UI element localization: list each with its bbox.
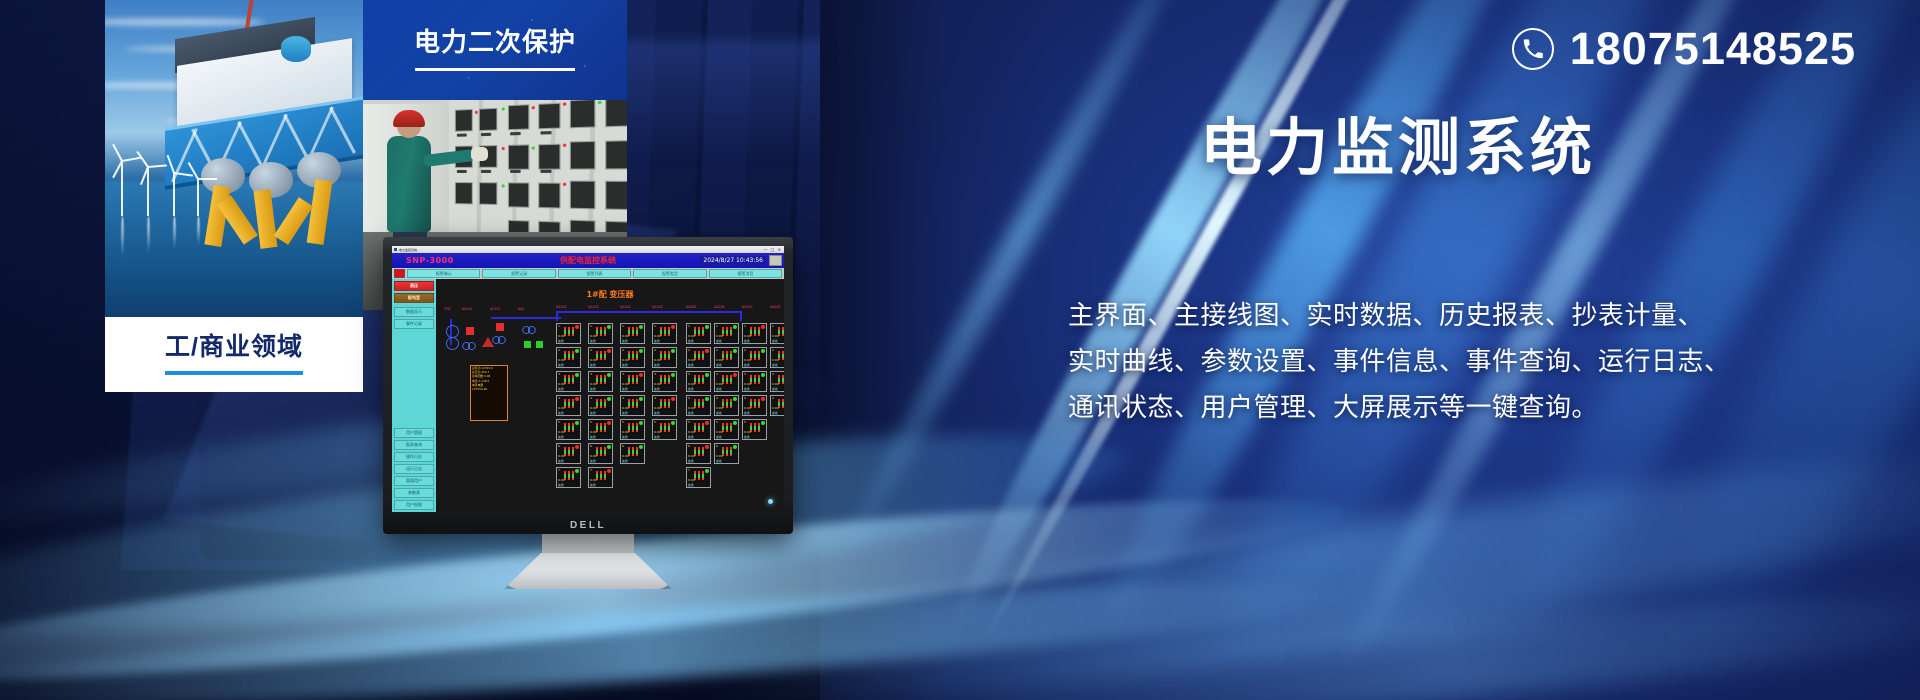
toolbar-alarm-list[interactable]: 报警列表 [558, 269, 631, 278]
feeder-value: 0.00 [688, 358, 695, 362]
summary-info-panel: 总有功 12345.6 总无功 456.7 功率因数 0.98 电流 A 128… [470, 365, 508, 421]
feeder-phase-bars-green [596, 378, 608, 382]
feeder-cell[interactable]: 20.00备用 [652, 347, 677, 368]
feeder-value: 0.00 [744, 382, 751, 386]
feeder-phase-bars-green [660, 378, 672, 382]
feeder-value: 0.00 [558, 382, 565, 386]
feeder-cell-number: 2 [590, 348, 592, 352]
feeder-cell[interactable]: 60.00备用 [588, 443, 613, 464]
feeder-cell[interactable]: 30.00备用 [620, 371, 645, 392]
feeder-name: 备用 [716, 411, 722, 415]
bus-tag: AA205 [686, 305, 697, 309]
feeder-name: 备用 [590, 411, 596, 415]
feeder-value: 0.00 [622, 430, 629, 434]
dell-logo: DELL [383, 520, 793, 531]
feeder-name: 备用 [772, 339, 778, 343]
feeder-value: 0.00 [744, 358, 751, 362]
alarm-indicator-icon[interactable] [394, 269, 405, 278]
app-icon [394, 248, 397, 251]
feeder-cell[interactable]: 60.00备用 [556, 443, 581, 464]
feeder-cell-number: 1 [654, 324, 656, 328]
feeder-cell[interactable]: 50.00备用 [714, 419, 739, 440]
feeder-cell[interactable]: 30.00备用 [652, 371, 677, 392]
feeder-value: 0.00 [688, 430, 695, 434]
description-line-2: 实时曲线、参数设置、事件信息、事件查询、运行日志、 [1068, 338, 1858, 384]
sidebar-item-admin-user[interactable]: 管理用户 [394, 476, 434, 486]
feeder-cell[interactable]: 20.00备用 [588, 347, 613, 368]
worker-body [387, 136, 431, 232]
feeder-name: 备用 [622, 411, 628, 415]
feeder-phase-bars-green [722, 450, 734, 454]
feeder-cell-number: 1 [590, 324, 592, 328]
feeder-cell[interactable]: 40.00备用 [686, 395, 711, 416]
feeder-phase-bars-green [750, 426, 762, 430]
feeder-value: 0.00 [688, 382, 695, 386]
feeder-cell-number: 2 [772, 348, 774, 352]
feeder-cell[interactable]: 20.00备用 [556, 347, 581, 368]
feeder-phase-bars-green [596, 330, 608, 334]
feeder-cell[interactable]: 40.00备用 [714, 395, 739, 416]
feeder-name: 备用 [590, 339, 596, 343]
feeder-value: 0.00 [590, 382, 597, 386]
feeder-cell-number: 3 [744, 372, 746, 376]
feeder-cell-number: 7 [688, 468, 690, 472]
feeder-value: 0.00 [622, 358, 629, 362]
sidebar-item-event-record[interactable]: 事件记录 [394, 319, 434, 329]
toolbar-alarm-type[interactable]: 报警类型 [633, 269, 706, 278]
feeder-phase-bars-green [722, 426, 734, 430]
card-label-underline [165, 371, 303, 375]
feature-description: 主界面、主接线图、实时数据、历史报表、抄表计量、 实时曲线、参数设置、事件信息、… [1068, 292, 1858, 430]
feeder-value: 0.00 [590, 454, 597, 458]
feeder-cell-number: 4 [654, 396, 656, 400]
feeder-value: 0.00 [654, 358, 661, 362]
feeder-cell[interactable]: 10.00备用 [556, 323, 581, 344]
feeder-cell[interactable]: 10.00备用 [588, 323, 613, 344]
feeder-cell[interactable]: 10.00备用 [770, 323, 784, 344]
feeder-phase-bars-green [750, 402, 762, 406]
feeder-cell-number: 3 [688, 372, 690, 376]
feeder-phase-bars-green [694, 354, 706, 358]
feeder-cell-number: 2 [744, 348, 746, 352]
feeder-cell-number: 4 [688, 396, 690, 400]
feeder-cell-number: 7 [558, 468, 560, 472]
banner-stage: 工/商业领域 电力二次保护 [0, 0, 1920, 700]
feeder-cell-number: 3 [716, 372, 718, 376]
feeder-phase-bars-green [564, 450, 576, 454]
feeder-cell[interactable]: 10.00备用 [620, 323, 645, 344]
feeder-cell-number: 2 [654, 348, 656, 352]
feeder-cell[interactable]: 30.00备用 [686, 371, 711, 392]
info-line: 107554.60 [471, 387, 507, 391]
feeder-cell-number: 5 [654, 420, 656, 424]
feeder-phase-bars-green [694, 474, 706, 478]
feeder-cell-number: 6 [688, 444, 690, 448]
feeder-cell-number: 4 [558, 396, 560, 400]
feeder-phase-bars-green [660, 402, 672, 406]
feeder-value: 0.00 [590, 334, 597, 338]
feeder-cell[interactable]: 50.00备用 [686, 419, 711, 440]
monitor-screen: 电力监控系统 — □ ✕ SNP-3000 供配电监控系统 2024/8/27 … [392, 246, 784, 512]
feeder-cell[interactable]: 10.00备用 [742, 323, 767, 344]
feeder-name: 备用 [744, 411, 750, 415]
app-toolbar: 报警确认 报警记录 报警列表 报警类型 报警消音 [392, 268, 784, 279]
feeder-cell-number: 4 [622, 396, 624, 400]
app-header-button[interactable] [769, 255, 782, 266]
feeder-name: 备用 [688, 363, 694, 367]
feeder-name: 备用 [622, 387, 628, 391]
phone-icon [1512, 28, 1554, 70]
feeder-value: 0.00 [772, 358, 779, 362]
sidebar-item-operation-log[interactable]: 操作日志 [394, 452, 434, 462]
feeder-phase-bars-green [628, 330, 640, 334]
feeder-cell-number: 4 [744, 396, 746, 400]
feeder-value: 0.00 [716, 334, 723, 338]
feeder-cell-number: 4 [772, 396, 774, 400]
app-header: SNP-3000 供配电监控系统 2024/8/27 10:43:56 [392, 253, 784, 268]
feeder-cell-number: 1 [772, 324, 774, 328]
feeder-value: 0.00 [716, 430, 723, 434]
feeder-cell-number: 3 [654, 372, 656, 376]
bus-tag: TM1 [444, 307, 451, 311]
feeder-value: 0.00 [716, 382, 723, 386]
feeder-name: 备用 [688, 459, 694, 463]
phone-number: 18075148525 [1570, 26, 1856, 71]
feeder-phase-bars-green [628, 354, 640, 358]
feeder-name: 备用 [558, 435, 564, 439]
sidebar-item-distribution-room[interactable]: 配电室 [394, 293, 434, 303]
feeder-cell-number: 1 [688, 324, 690, 328]
feeder-cell[interactable]: 20.00备用 [686, 347, 711, 368]
feeder-cell[interactable]: 60.00备用 [714, 443, 739, 464]
bus-tag: AA204 [714, 305, 725, 309]
feeder-value: 0.00 [558, 334, 565, 338]
feeder-cell-number: 1 [622, 324, 624, 328]
feeder-name: 备用 [590, 363, 596, 367]
feeder-phase-bars-green [750, 330, 762, 334]
description-line-1: 主界面、主接线图、实时数据、历史报表、抄表计量、 [1068, 292, 1858, 338]
feeder-phase-bars-green [722, 402, 734, 406]
feeder-cell-number: 2 [622, 348, 624, 352]
feeder-name: 备用 [654, 387, 660, 391]
feeder-name: 备用 [622, 459, 628, 463]
background-blend-edge [820, 0, 1050, 700]
description-line-3: 通讯状态、用户管理、大屏展示等一键查询。 [1068, 384, 1858, 430]
feeder-name: 备用 [622, 435, 628, 439]
sidebar-item-user-management[interactable]: 用户管理 [394, 428, 434, 438]
feeder-cell-number: 6 [716, 444, 718, 448]
toolbar-alarm-record[interactable]: 报警记录 [482, 269, 555, 278]
feeder-name: 备用 [558, 387, 564, 391]
feeder-phase-bars-green [660, 330, 672, 334]
feeder-cell[interactable]: 40.00备用 [620, 395, 645, 416]
feeder-cell-number: 5 [590, 420, 592, 424]
feeder-name: 备用 [744, 435, 750, 439]
feeder-phase-bars-green [564, 354, 576, 358]
feeder-name: 备用 [744, 387, 750, 391]
feeder-name: 备用 [716, 387, 722, 391]
feeder-phase-bars-green [694, 330, 706, 334]
feeder-value: 0.00 [688, 406, 695, 410]
sidebar-item-report-query[interactable]: 报表查询 [394, 440, 434, 450]
single-line-diagram: 1#配 变压器 [436, 279, 784, 512]
card-label-text: 工/商业领域 [165, 335, 303, 360]
feeder-cell[interactable]: 20.00备用 [714, 347, 739, 368]
feeder-name: 备用 [622, 363, 628, 367]
feeder-value: 0.00 [654, 334, 661, 338]
feeder-cell[interactable]: 30.00备用 [714, 371, 739, 392]
feeder-cell[interactable]: 50.00备用 [556, 419, 581, 440]
feeder-cell-number: 7 [590, 468, 592, 472]
feeder-cell[interactable]: 70.00备用 [588, 467, 613, 488]
feeder-value: 0.00 [590, 406, 597, 410]
feeder-cell-number: 1 [558, 324, 560, 328]
feeder-value: 0.00 [558, 430, 565, 434]
feeder-value: 0.00 [558, 358, 565, 362]
feeder-cell[interactable]: 10.00备用 [686, 323, 711, 344]
feeder-cell-number: 5 [622, 420, 624, 424]
feeder-name: 备用 [558, 411, 564, 415]
feeder-cell-number: 4 [716, 396, 718, 400]
feeder-phase-bars-green [596, 474, 608, 478]
feeder-value: 0.00 [744, 334, 751, 338]
feeder-value: 0.00 [772, 382, 779, 386]
app-sidebar: 高压 配电室 数据显示 事件记录 用户管理 报表查询 操作日志 运行日志 管理用… [392, 279, 436, 512]
feeder-name: 备用 [622, 339, 628, 343]
feeder-phase-bars-green [694, 450, 706, 454]
feeder-value: 0.00 [716, 406, 723, 410]
feeder-value: 0.00 [558, 406, 565, 410]
feeder-cell[interactable]: 70.00备用 [556, 467, 581, 488]
feeder-cell-number: 1 [744, 324, 746, 328]
feeder-name: 备用 [688, 483, 694, 487]
toolbar-alarm-confirm[interactable]: 报警确认 [407, 269, 480, 278]
feeder-cell-number: 1 [716, 324, 718, 328]
app-clock: 2024/8/27 10:43:56 [700, 256, 766, 265]
feeder-value: 0.00 [654, 430, 661, 434]
feeder-value: 0.00 [772, 334, 779, 338]
feeder-cell-number: 6 [590, 444, 592, 448]
feeder-value: 0.00 [590, 478, 597, 482]
contact-phone[interactable]: 18075148525 [1512, 26, 1856, 71]
feeder-cell[interactable]: 60.00备用 [620, 443, 645, 464]
card-label-industrial-commercial: 工/商业领域 [105, 317, 363, 392]
feeder-cell[interactable]: 20.00备用 [620, 347, 645, 368]
feeder-name: 备用 [688, 411, 694, 415]
feeder-name: 备用 [716, 339, 722, 343]
feeder-phase-bars-green [564, 378, 576, 382]
feeder-phase-bars-green [596, 402, 608, 406]
bus-tag: AA101 [462, 307, 473, 311]
feeder-phase-bars-green [596, 450, 608, 454]
feeder-phase-bars-green [628, 378, 640, 382]
feeder-cell[interactable]: 40.00备用 [556, 395, 581, 416]
feeder-cell[interactable]: 40.00备用 [770, 395, 784, 416]
feeder-name: 备用 [744, 339, 750, 343]
feeder-phase-bars-green [596, 354, 608, 358]
feeder-phase-bars-green [564, 330, 576, 334]
sidebar-item-run-log[interactable]: 运行日志 [394, 464, 434, 474]
feeder-phase-bars-green [564, 402, 576, 406]
feeder-name: 备用 [716, 363, 722, 367]
feeder-phase-bars-green [628, 402, 640, 406]
card-title-text: 电力二次保护 [414, 29, 576, 55]
feeder-name: 备用 [654, 435, 660, 439]
feeder-name: 备用 [654, 363, 660, 367]
app-titlebar: 电力监控系统 — □ ✕ [392, 246, 784, 253]
feeder-value: 0.00 [622, 334, 629, 338]
bus-tag: AA203 [742, 305, 753, 309]
feeder-cell[interactable]: 40.00备用 [652, 395, 677, 416]
feeder-name: 备用 [744, 363, 750, 367]
feeder-cell[interactable]: 20.00备用 [742, 347, 767, 368]
feeder-cell[interactable]: 50.00备用 [652, 419, 677, 440]
feeder-phase-bars-green [750, 354, 762, 358]
feeder-cell[interactable]: 50.00备用 [588, 419, 613, 440]
card-header-power-secondary-protection: 电力二次保护 [363, 0, 627, 100]
feeder-value: 0.00 [716, 358, 723, 362]
toolbar-alarm-mute[interactable]: 报警消音 [709, 269, 782, 278]
card-industrial-commercial[interactable]: 工/商业领域 [105, 0, 363, 392]
feeder-phase-bars-green [596, 426, 608, 430]
sidebar-item-high-voltage[interactable]: 高压 [394, 281, 434, 291]
feeder-cell[interactable]: 40.00备用 [742, 395, 767, 416]
window-controls[interactable]: — □ ✕ [763, 247, 782, 252]
feeder-cell[interactable]: 10.00备用 [652, 323, 677, 344]
feeder-phase-bars-green [564, 474, 576, 478]
feeder-name: 备用 [688, 339, 694, 343]
feeder-cell-number: 2 [688, 348, 690, 352]
feeder-name: 备用 [716, 459, 722, 463]
feeder-cell[interactable]: 20.00备用 [770, 347, 784, 368]
feeder-cell-number: 5 [716, 420, 718, 424]
sidebar-item-data-display[interactable]: 数据显示 [394, 307, 434, 317]
diagram-title: 1#配 变压器 [436, 289, 784, 300]
feeder-value: 0.00 [744, 430, 751, 434]
feeder-name: 备用 [688, 387, 694, 391]
feeder-value: 0.00 [772, 406, 779, 410]
feeder-name: 备用 [772, 411, 778, 415]
feeder-phase-bars-green [694, 378, 706, 382]
feeder-value: 0.00 [558, 454, 565, 458]
bus-tag: AA103 [588, 305, 599, 309]
feeder-name: 备用 [590, 435, 596, 439]
feeder-name: 备用 [558, 483, 564, 487]
feeder-value: 0.00 [744, 406, 751, 410]
feeder-name: 备用 [590, 459, 596, 463]
feeder-phase-bars-green [722, 330, 734, 334]
feeder-cell-number: 4 [590, 396, 592, 400]
scada-application: 电力监控系统 — □ ✕ SNP-3000 供配电监控系统 2024/8/27 … [392, 246, 784, 512]
feeder-value: 0.00 [622, 382, 629, 386]
feeder-name: 备用 [558, 363, 564, 367]
feeder-cell[interactable]: 50.00备用 [742, 419, 767, 440]
feeder-name: 备用 [772, 387, 778, 391]
feeder-phase-bars-green [694, 426, 706, 430]
feeder-cell-number: 6 [558, 444, 560, 448]
feeder-value: 0.00 [590, 358, 597, 362]
app-body: 高压 配电室 数据显示 事件记录 用户管理 报表查询 操作日志 运行日志 管理用… [392, 279, 784, 512]
feeder-cell-number: 3 [590, 372, 592, 376]
feeder-cell-number: 2 [558, 348, 560, 352]
feeder-value: 0.00 [558, 478, 565, 482]
monitor-power-led [768, 499, 773, 504]
bus-tag: AA105 [652, 305, 663, 309]
offshore-power-platform-photo [105, 0, 363, 317]
feeder-phase-bars-green [722, 354, 734, 358]
feeder-cell-number: 5 [558, 420, 560, 424]
monitor-bezel: 电力监控系统 — □ ✕ SNP-3000 供配电监控系统 2024/8/27 … [383, 237, 793, 534]
bus-tag: AA202 [770, 305, 781, 309]
app-window-title: 电力监控系统 [399, 248, 417, 252]
feeder-cell-number: 3 [772, 372, 774, 376]
feeder-name: 备用 [558, 459, 564, 463]
feeder-cell[interactable]: 70.00备用 [686, 467, 711, 488]
feeder-phase-bars-green [628, 450, 640, 454]
bus-tag: AA104 [620, 305, 631, 309]
feeder-cell-number: 3 [558, 372, 560, 376]
feeder-name: 备用 [688, 435, 694, 439]
feeder-value: 0.00 [688, 334, 695, 338]
feeder-name: 备用 [654, 411, 660, 415]
feeder-value: 0.00 [688, 454, 695, 458]
feeder-name: 备用 [772, 363, 778, 367]
feeder-value: 0.00 [622, 454, 629, 458]
feeder-value: 0.00 [654, 382, 661, 386]
feeder-phase-bars-green [660, 354, 672, 358]
feeder-cell[interactable]: 40.00备用 [588, 395, 613, 416]
sidebar-item-user-permission[interactable]: 用户权限 [394, 500, 434, 510]
feeder-cell[interactable]: 50.00备用 [620, 419, 645, 440]
feeder-cell-number: 2 [716, 348, 718, 352]
feeder-cell-number: 6 [622, 444, 624, 448]
feeder-phase-bars-green [628, 426, 640, 430]
card-title-underline [415, 68, 575, 71]
feeder-cell[interactable]: 10.00备用 [714, 323, 739, 344]
feeder-value: 0.00 [590, 430, 597, 434]
feeder-cell[interactable]: 30.00备用 [588, 371, 613, 392]
feeder-name: 备用 [590, 387, 596, 391]
bus-tag: AA1 [518, 307, 524, 311]
worker-glove [471, 147, 488, 161]
feeder-name: 备用 [558, 339, 564, 343]
sidebar-spacer [394, 331, 434, 426]
dell-monitor: 电力监控系统 — □ ✕ SNP-3000 供配电监控系统 2024/8/27 … [383, 237, 793, 534]
bus-tag: AC101 [490, 307, 500, 311]
feeder-name: 备用 [654, 339, 660, 343]
feeder-cell[interactable]: 30.00备用 [770, 371, 784, 392]
feeder-value: 0.00 [622, 406, 629, 410]
bus-tag: AA102 [556, 305, 567, 309]
feeder-phase-bars-green [722, 378, 734, 382]
sidebar-item-parameter[interactable]: 参数表 [394, 488, 434, 498]
feeder-name: 备用 [590, 483, 596, 487]
feeder-phase-bars-green [564, 426, 576, 430]
feeder-value: 0.00 [716, 454, 723, 458]
feeder-cell[interactable]: 30.00备用 [556, 371, 581, 392]
feeder-cell-number: 5 [744, 420, 746, 424]
feeder-value: 0.00 [688, 478, 695, 482]
feeder-phase-bars-green [750, 378, 762, 382]
feeder-cell-number: 5 [688, 420, 690, 424]
feeder-cell[interactable]: 60.00备用 [686, 443, 711, 464]
feeder-name: 备用 [716, 435, 722, 439]
feeder-phase-bars-green [694, 402, 706, 406]
feeder-cell-number: 3 [622, 372, 624, 376]
page-title: 电力监测系统 [1200, 118, 1596, 180]
feeder-phase-bars-green [660, 426, 672, 430]
feeder-cell[interactable]: 30.00备用 [742, 371, 767, 392]
